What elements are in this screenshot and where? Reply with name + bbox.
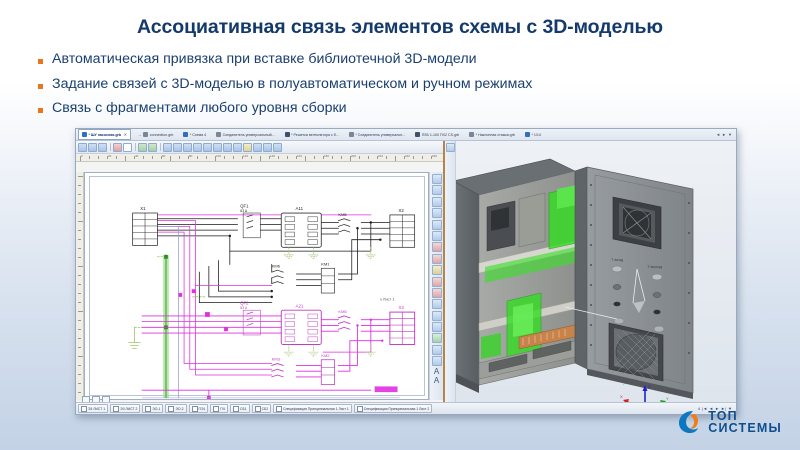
bullet-list: Автоматическая привязка при вставке библ… — [38, 52, 778, 126]
device-face — [491, 207, 509, 231]
sheet-icon — [168, 406, 174, 412]
svg-text:KM6: KM6 — [272, 263, 281, 268]
terminal-block-x2: X2 — [390, 208, 415, 247]
text-small-a-icon[interactable]: A — [433, 377, 441, 385]
logo-text: ТОП СИСТЕМЫ — [708, 410, 782, 435]
bullet-marker-icon — [38, 59, 43, 64]
sheet-tab-6[interactable]: СБ1 — [230, 404, 250, 413]
electrical-schematic[interactable]: к Лист 1 к Лист 2 X1 — [85, 173, 428, 400]
line-tool-icon[interactable] — [138, 143, 147, 152]
roughness-icon[interactable] — [253, 143, 262, 152]
contactor-km3: KM3 — [272, 357, 283, 377]
terminal-block-x1: X1 — [133, 206, 158, 245]
zoom-fit-icon[interactable] — [432, 231, 442, 241]
sheet-tab-0[interactable]: Э3 ЛИСТ 1 — [78, 404, 108, 413]
angle-icon[interactable] — [183, 143, 192, 152]
company-logo: ТОП СИСТЕМЫ — [676, 408, 782, 436]
sheet-icon — [113, 406, 119, 412]
relay-km1: KM1 — [321, 261, 334, 293]
svg-text:X3: X3 — [398, 305, 404, 310]
divider — [135, 143, 136, 151]
tabbar-scroll-controls[interactable]: ◄ ► ▼ — [716, 132, 734, 137]
schematic-toolbar-row-1[interactable] — [76, 141, 443, 154]
cabinet-left-side — [453, 181, 479, 385]
sheet-tab-label: Спецификация Принципиальная 1 Лист 1 — [283, 407, 349, 411]
tab-document-2[interactable]: * Схема 4 — [179, 129, 210, 140]
svg-text:Y: Y — [666, 396, 669, 401]
sheet-tab-label: Спецификация Принципиальная 1 Лист 2 — [364, 407, 430, 411]
svg-text:A21: A21 — [296, 303, 304, 308]
tab-label: * ШУ насосная.grb — [89, 133, 122, 137]
sheet-icon — [469, 132, 474, 137]
layers-icon[interactable] — [432, 356, 442, 366]
tab-document-0[interactable]: * ШУ насосная.grb ✕ — [78, 129, 131, 140]
close-icon[interactable]: ✕ — [124, 132, 127, 137]
tab-list-icon[interactable]: ▼ — [728, 132, 732, 137]
dimension-icon[interactable] — [432, 299, 442, 309]
tab-document-4[interactable]: * Решетка вентилятора с б... — [281, 129, 343, 140]
sheet-icon — [233, 406, 239, 412]
selected-net-badge[interactable] — [375, 386, 398, 392]
list-item: Задание связей с 3D-моделью в полуавтома… — [38, 77, 778, 93]
tab-label: * Наклонная стяжка.grb — [476, 133, 515, 137]
magnet-icon[interactable] — [432, 185, 442, 195]
image-icon[interactable] — [432, 345, 442, 355]
table-icon[interactable] — [273, 143, 282, 152]
sheet-tab-label: ЭО-2 — [175, 407, 183, 411]
sheet-icon — [213, 406, 219, 412]
tab-label: connection.grb — [150, 133, 174, 137]
sheet-icon — [192, 406, 198, 412]
tab-label: ПЗБ 1-100 ПХ2 CS.grb — [422, 133, 459, 137]
svg-text:KM5: KM5 — [338, 309, 347, 314]
tab-label: * 1/14 — [531, 133, 540, 137]
schematic-canvas[interactable]: к Лист 1 к Лист 2 X1 — [84, 172, 429, 400]
segment-icon[interactable] — [173, 143, 182, 152]
model3d-pane[interactable]: Т вход Т выход — [445, 141, 736, 415]
zoom-window-icon[interactable] — [432, 220, 442, 230]
tab-document-6[interactable]: ПЗБ 1-100 ПХ2 CS.grb — [411, 129, 463, 140]
svg-text:KM2: KM2 — [321, 353, 330, 358]
page-title: Ассоциативная связь элементов схемы с 3D… — [0, 16, 800, 39]
relay-km2: KM2 — [321, 353, 334, 385]
breaker-qf2: QF2 63 A — [240, 300, 260, 334]
sheet-tab-label: СБ2 — [262, 407, 269, 411]
wire-break-icon[interactable] — [432, 288, 442, 298]
rotate-icon[interactable] — [446, 143, 455, 152]
svg-text:KM5: KM5 — [338, 212, 347, 217]
grid-icon — [285, 132, 290, 137]
zoom-in-icon[interactable] — [432, 197, 442, 207]
document-icon — [82, 132, 87, 137]
bullet-text: Связь с фрагментами любого уровня сборки — [52, 101, 347, 117]
tab-label: * Схема 4 — [190, 133, 206, 137]
door-label-inlet: Т вход — [611, 257, 624, 262]
svg-text:63 A: 63 A — [240, 306, 248, 310]
logo-mark-icon — [676, 408, 702, 436]
rectangle-icon[interactable] — [193, 143, 202, 152]
device-a11: A11 — [281, 206, 321, 247]
electrical-cabinet-3d-model[interactable]: Т вход Т выход — [445, 141, 736, 415]
dim-icon[interactable] — [243, 143, 252, 152]
schematic-ref-label: к Лист 1 — [380, 298, 394, 302]
cad-application-window[interactable]: * ШУ насосная.grb ✕ → connection.grb * С… — [75, 128, 737, 415]
copy-icon[interactable] — [432, 322, 442, 332]
tab-label: Соединитель универсальный... — [223, 133, 275, 137]
list-item: Автоматическая привязка при вставке библ… — [38, 52, 778, 68]
text-aa-icon[interactable] — [223, 143, 232, 152]
marker-icon[interactable] — [263, 143, 272, 152]
bullet-marker-icon — [38, 84, 43, 89]
svg-text:QF1: QF1 — [240, 203, 249, 208]
svg-text:X: X — [620, 394, 623, 399]
tab-document-5[interactable]: * Соединитель универсальн... — [345, 129, 409, 140]
divider — [160, 143, 161, 151]
node-create-icon[interactable] — [432, 242, 442, 252]
sheet-tab-label: СБ1 — [240, 407, 247, 411]
tab-scroll-right-icon[interactable]: ► — [722, 132, 726, 137]
sheet-tab-label: Э3 ЛИСТ 2 — [120, 407, 137, 411]
frame-icon[interactable] — [432, 174, 442, 184]
leader-icon[interactable] — [233, 143, 242, 152]
node-edit-icon[interactable] — [432, 254, 442, 264]
page-icon[interactable] — [432, 311, 442, 321]
text-big-a-icon[interactable]: A — [433, 368, 441, 376]
sheet-tab-9[interactable]: Спецификация Принципиальная 1 Лист 2 — [354, 404, 433, 413]
sheet-tab-label: ЭО-1 — [152, 407, 160, 411]
logo-line-2: СИСТЕМЫ — [708, 422, 782, 435]
node-icon[interactable] — [113, 143, 122, 152]
arrow-right-icon: → — [138, 133, 142, 137]
bullet-text: Автоматическая привязка при вставке библ… — [52, 52, 477, 68]
schematic-side-toolbar[interactable]: A A — [429, 172, 443, 400]
tab-document-8[interactable]: * 1/14 — [521, 129, 545, 140]
tab-label: * Соединитель универсальн... — [355, 133, 405, 137]
door-label-outlet: Т выход — [647, 264, 663, 269]
sheet-tab-8[interactable]: Спецификация Принципиальная 1 Лист 1 — [273, 404, 352, 413]
sheet-tab-7[interactable]: СБ2 — [252, 404, 272, 413]
sheet-tab-4[interactable]: ПЭ1 — [189, 404, 209, 413]
paste-icon[interactable] — [432, 333, 442, 343]
tab-document-7[interactable]: * Наклонная стяжка.grb — [465, 129, 519, 140]
select-icon[interactable] — [88, 143, 97, 152]
text-a-icon[interactable] — [213, 143, 222, 152]
dropdown-icon[interactable] — [123, 143, 132, 152]
spec-icon — [276, 406, 282, 412]
document-tab-bar[interactable]: * ШУ насосная.grb ✕ → connection.grb * С… — [76, 129, 736, 141]
tab-document-1[interactable]: → connection.grb — [133, 129, 177, 140]
sheet-tab-2[interactable]: ЭО-1 — [142, 404, 163, 413]
sheet-tab-bar[interactable]: Э3 ЛИСТ 1 Э3 ЛИСТ 2 ЭО-1 ЭО-2 ПЭ1 ПЧ СБ1 — [76, 402, 736, 414]
tab-label: * Решетка вентилятора с б... — [291, 133, 339, 137]
divider — [110, 143, 111, 151]
tab-document-3[interactable]: Соединитель универсальный... — [212, 129, 279, 140]
tab-scroll-left-icon[interactable]: ◄ — [716, 132, 720, 137]
device-a21: A21 — [281, 303, 321, 344]
sheet-icon — [81, 406, 87, 412]
part-icon — [349, 132, 354, 137]
terminal-block-x3: X3 — [390, 305, 415, 344]
svg-text:63 A: 63 A — [240, 209, 248, 213]
bullet-marker-icon — [38, 108, 43, 113]
svg-text:A11: A11 — [296, 206, 304, 211]
construction-line-icon[interactable] — [432, 265, 442, 275]
svg-text:X2: X2 — [398, 208, 404, 213]
point-icon[interactable] — [163, 143, 172, 152]
diagram-icon — [183, 132, 188, 137]
hatch-icon[interactable] — [203, 143, 212, 152]
model3d-side-toolbar[interactable] — [445, 141, 456, 415]
magnet-icon[interactable] — [98, 143, 107, 152]
wire-connect-icon[interactable] — [432, 277, 442, 287]
breaker-qf1: QF1 63 A — [240, 203, 260, 237]
sheet-tab-label: ПЭ1 — [199, 407, 206, 411]
wire-tool-icon[interactable] — [148, 143, 157, 152]
sheet-icon — [255, 406, 261, 412]
cursor-icon[interactable] — [78, 143, 87, 152]
sheet-tab-5[interactable]: ПЧ — [210, 404, 228, 413]
device-block — [519, 193, 545, 247]
schematic-pane[interactable]: 020406080100120140160180200220240260 — [76, 141, 445, 415]
assembly-icon — [415, 132, 420, 137]
sheet-tab-label: Э3 ЛИСТ 1 — [88, 407, 105, 411]
lock-icon — [143, 132, 148, 137]
bullet-text: Задание связей с 3D-моделью в полуавтома… — [52, 77, 532, 93]
sheet-icon — [145, 406, 151, 412]
part-icon — [216, 132, 221, 137]
contactor-km5-lower: KM5 — [338, 309, 349, 329]
zoom-out-icon[interactable] — [432, 208, 442, 218]
spec-icon — [357, 406, 363, 412]
svg-text:X1: X1 — [140, 206, 146, 211]
document-split-view: 020406080100120140160180200220240260 — [76, 141, 736, 415]
door-hinge-edge — [575, 167, 587, 369]
doc2-icon — [525, 132, 530, 137]
sheet-tab-1[interactable]: Э3 ЛИСТ 2 — [110, 404, 140, 413]
contactor-km6: KM6 — [272, 263, 283, 283]
svg-text:KM3: KM3 — [272, 357, 281, 362]
vertical-ruler — [76, 172, 84, 400]
svg-text:KM1: KM1 — [321, 261, 330, 266]
list-item: Связь с фрагментами любого уровня сборки — [38, 101, 778, 117]
svg-text:QF2: QF2 — [240, 300, 249, 305]
sheet-tab-label: ПЧ — [220, 407, 225, 411]
horizontal-ruler: 020406080100120140160180200220240260 — [76, 154, 443, 162]
sheet-tab-3[interactable]: ЭО-2 — [165, 404, 186, 413]
